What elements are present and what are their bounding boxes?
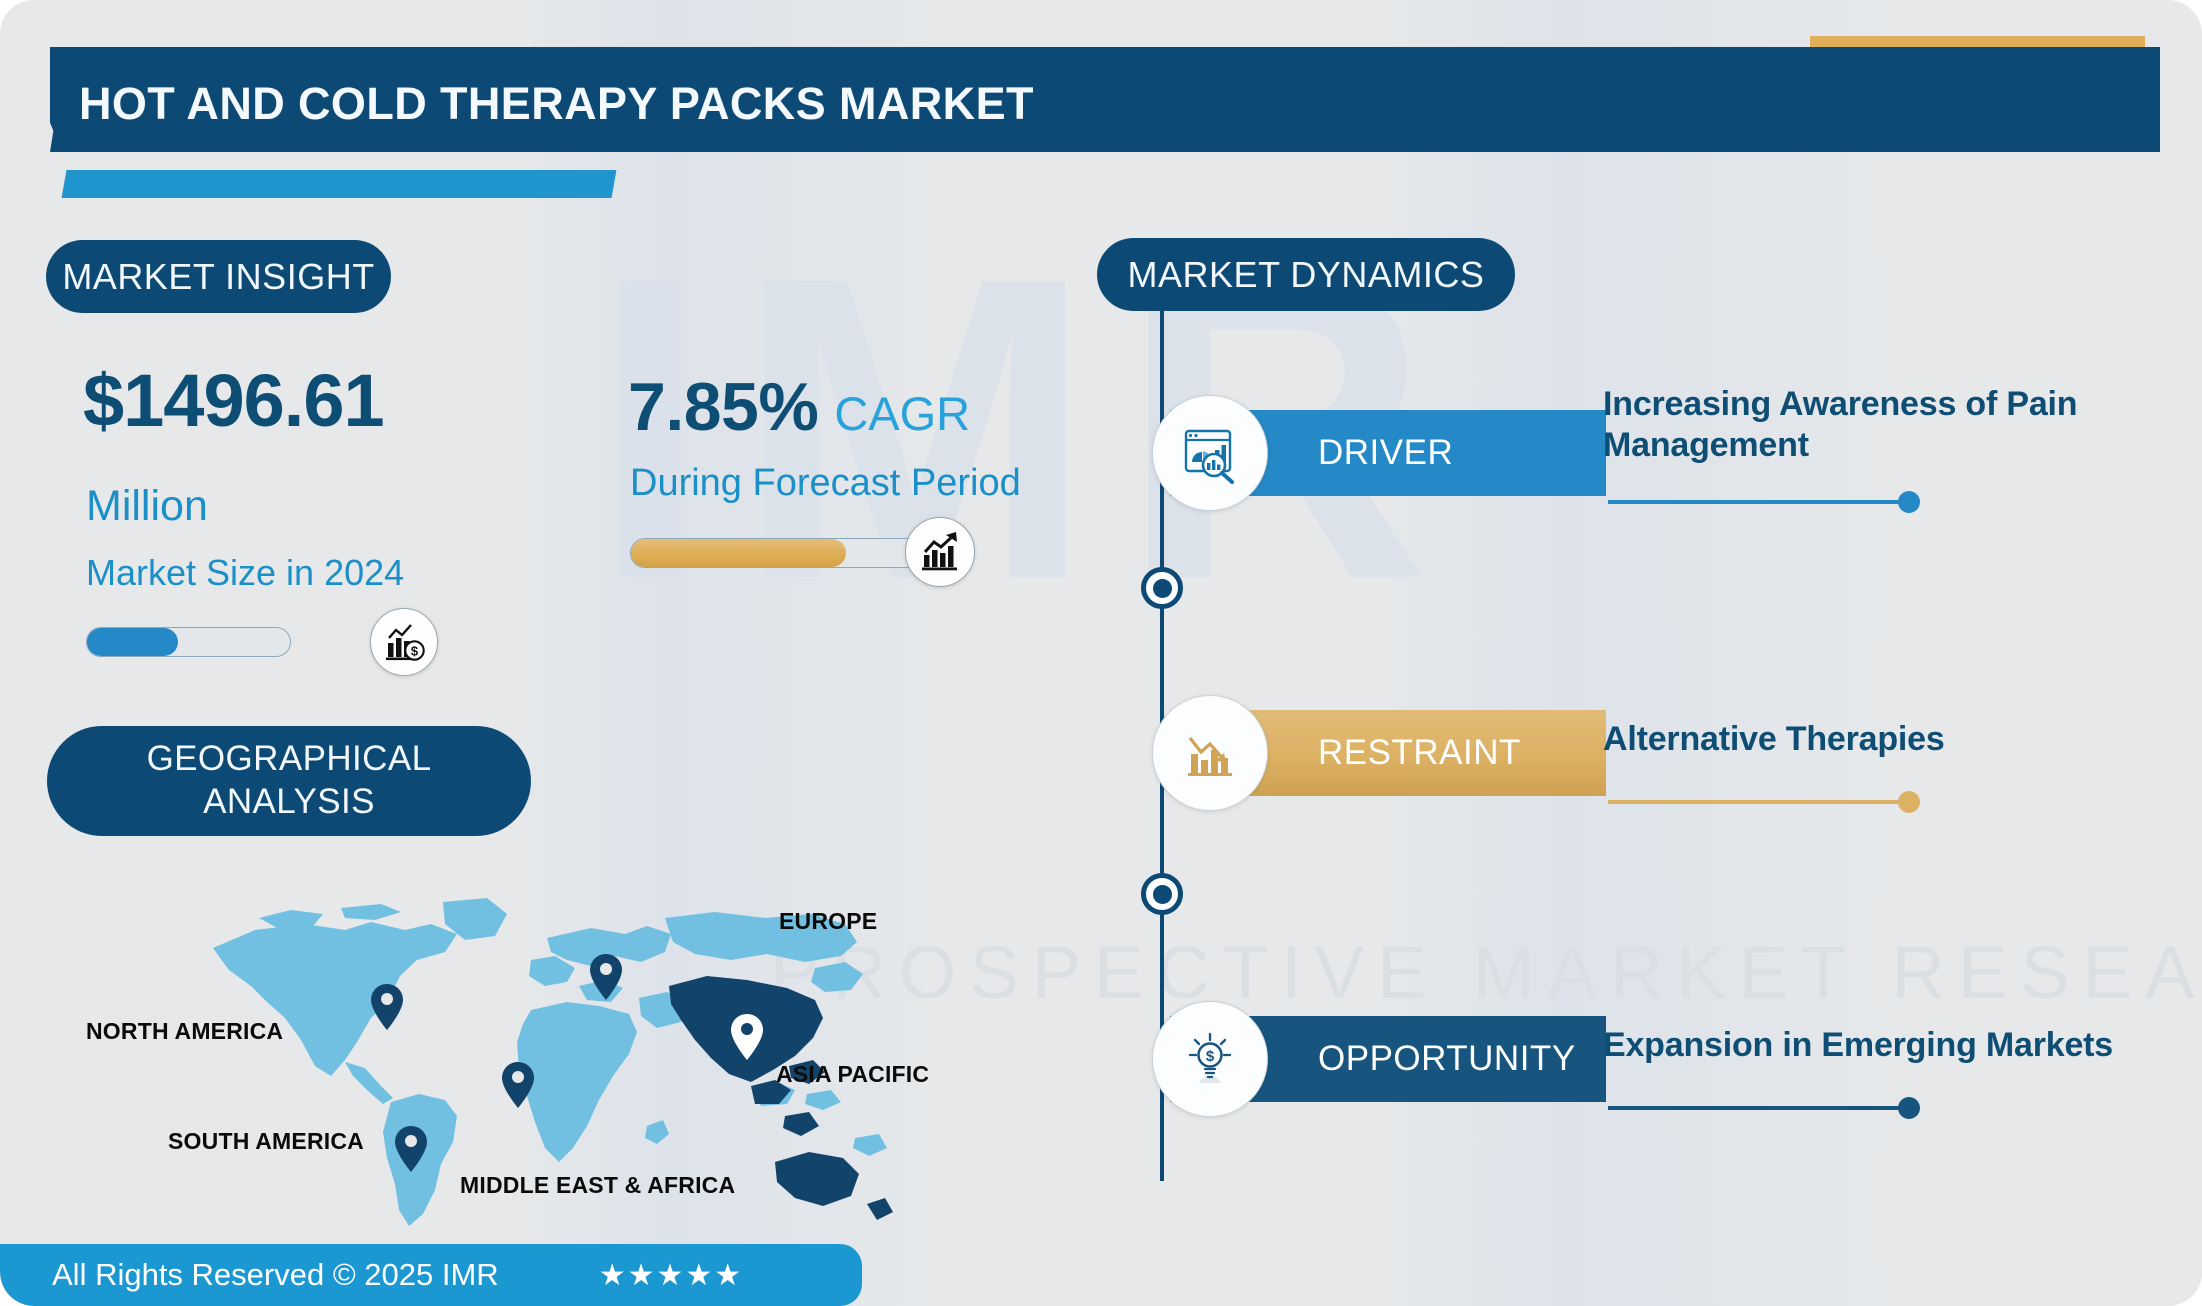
restraint-end-dot	[1898, 791, 1920, 813]
declining-bar-chart-icon	[1152, 695, 1268, 811]
cagr-progress-fill	[631, 539, 846, 567]
market-size-progress-track	[86, 627, 291, 657]
market-dynamics-pill: MARKET DYNAMICS	[1097, 238, 1515, 311]
cagr-value: 7.85%	[628, 368, 818, 446]
driver-bar: DRIVER	[1170, 410, 1606, 496]
bar-chart-dollar-icon: $	[370, 608, 438, 676]
watermark-tagline: PROSPECTIVE MARKET RESEARCH	[770, 930, 2202, 1015]
cagr-caption: During Forecast Period	[630, 462, 1021, 505]
growth-arrow-chart-icon	[905, 517, 975, 587]
dynamics-spine-node	[1141, 873, 1183, 915]
copyright-text: All Rights Reserved © 2025 IMR	[52, 1257, 499, 1293]
map-label-south-america: SOUTH AMERICA	[168, 1128, 364, 1155]
footer-bar: All Rights Reserved © 2025 IMR ★★★★★	[0, 1244, 862, 1306]
svg-text:$: $	[411, 644, 419, 659]
driver-end-dot	[1898, 491, 1920, 513]
cagr-progress-track	[630, 538, 930, 568]
report-search-icon	[1152, 395, 1268, 511]
spine-node-dot	[1153, 579, 1172, 598]
restraint-underline	[1608, 800, 1908, 804]
driver-text: Increasing Awareness of Pain Management	[1603, 384, 2133, 467]
title-accent-underbar	[62, 170, 617, 198]
opportunity-end-dot	[1898, 1097, 1920, 1119]
restraint-text: Alternative Therapies	[1603, 719, 2163, 760]
market-insight-pill: MARKET INSIGHT	[46, 240, 391, 313]
lightbulb-dollar-icon: $	[1152, 1001, 1268, 1117]
opportunity-bar: $ OPPORTUNITY	[1170, 1016, 1606, 1102]
geo-pill-line2: ANALYSIS	[203, 781, 375, 824]
geographical-analysis-pill: GEOGRAPHICAL ANALYSIS	[47, 726, 531, 836]
market-size-caption: Market Size in 2024	[86, 552, 404, 594]
map-label-asia-pacific: ASIA PACIFIC	[776, 1061, 929, 1088]
map-label-north-america: NORTH AMERICA	[86, 1018, 283, 1045]
market-size-progress-fill	[87, 628, 178, 656]
dynamics-spine-node	[1141, 567, 1183, 609]
restraint-bar: RESTRAINT	[1170, 710, 1606, 796]
background-band	[1380, 0, 1900, 1306]
map-label-europe: EUROPE	[779, 908, 877, 935]
opportunity-underline	[1608, 1106, 1908, 1110]
geo-pill-line1: GEOGRAPHICAL	[147, 738, 432, 781]
infographic-canvas: IMR PROSPECTIVE MARKET RESEARCH HOT AND …	[0, 0, 2202, 1306]
page-title: HOT AND COLD THERAPY PACKS MARKET	[79, 78, 1034, 130]
cagr-label: CAGR	[834, 386, 970, 441]
map-label-middle-east-africa: MIDDLE EAST & AFRICA	[460, 1172, 735, 1199]
market-size-value: $1496.61	[83, 358, 384, 443]
spine-node-dot	[1153, 885, 1172, 904]
rating-stars: ★★★★★	[599, 1258, 743, 1293]
cagr-row: 7.85% CAGR	[628, 368, 970, 446]
svg-text:$: $	[1206, 1048, 1215, 1065]
market-size-unit: Million	[86, 482, 208, 531]
driver-underline	[1608, 500, 1908, 504]
opportunity-text: Expansion in Emerging Markets	[1603, 1025, 2183, 1066]
